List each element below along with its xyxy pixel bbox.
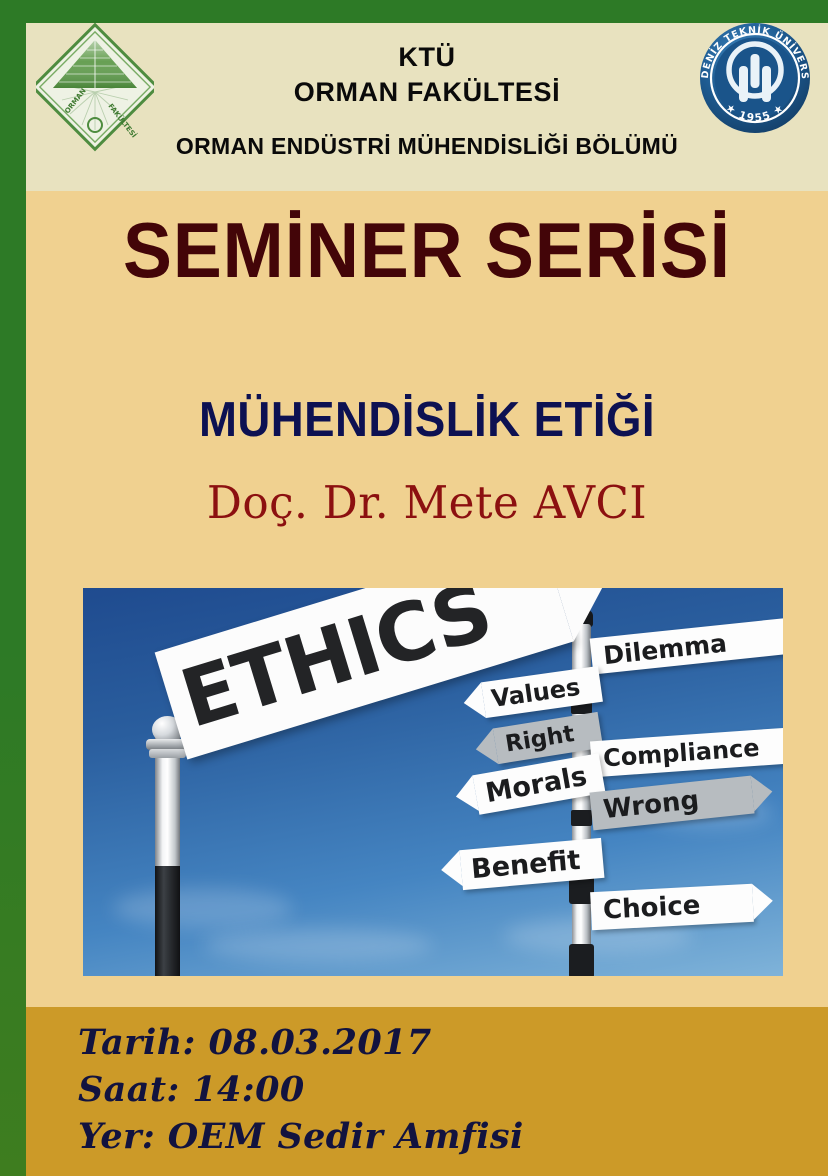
sign-wrong-label: Wrong	[602, 787, 700, 823]
sign-benefit-label: Benefit	[470, 846, 581, 882]
sign-compliance-label: Compliance	[602, 736, 760, 771]
sign-dilemma-label: Dilemma	[602, 630, 728, 668]
speaker-name: Doç. Dr. Mete AVCI	[38, 476, 816, 529]
sign-choice: Choice	[590, 884, 754, 930]
sign-ethics-label: ETHICS	[173, 588, 500, 740]
seminar-topic-title: MÜHENDİSLİK ETİĞİ	[54, 392, 800, 448]
orman-fakultesi-logo-icon: ORMAN FAKÜLTESİ	[36, 22, 154, 152]
series-title: SEMİNER SERİSİ	[50, 205, 804, 296]
border-band-left	[0, 0, 26, 1176]
sign-values-label: Values	[490, 675, 582, 711]
sign-choice-label: Choice	[602, 893, 701, 924]
signpost-band-4	[569, 944, 594, 976]
sign-compliance: Compliance	[590, 727, 783, 778]
ethics-signpost-photo: ETHICS Dilemma Values Right Compliance M…	[83, 588, 783, 976]
sign-right-label: Right	[504, 723, 576, 757]
event-date: Tarih: 08.03.2017	[78, 1022, 432, 1063]
seminar-poster: KTÜ ORMAN FAKÜLTESİ ORMAN ENDÜSTRİ MÜHEN…	[0, 0, 828, 1176]
signpost-left-pole-base	[155, 866, 180, 976]
ktu-logo-icon: KARADENİZ TEKNİK ÜNİVERSİTESİ ★ 1955 ★	[694, 14, 816, 138]
event-place: Yer: OEM Sedir Amfisi	[78, 1116, 524, 1157]
border-band-top	[0, 0, 828, 23]
signpost-collar-lower	[149, 749, 186, 758]
event-time: Saat: 14:00	[78, 1069, 305, 1110]
poster-footer: Tarih: 08.03.2017 Saat: 14:00 Yer: OEM S…	[26, 1007, 828, 1176]
signpost-band-2	[571, 810, 592, 826]
